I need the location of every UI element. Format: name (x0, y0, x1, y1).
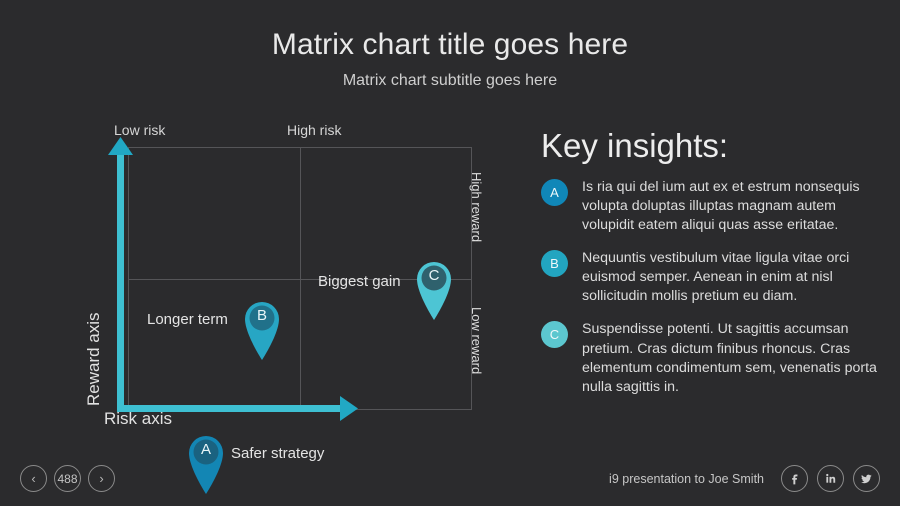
matrix-chart: Low risk High risk High reward Low rewar… (0, 110, 510, 440)
page-subtitle: Matrix chart subtitle goes here (0, 72, 900, 90)
page-number-badge[interactable]: 488 (54, 465, 81, 492)
matrix-pin-a-letter: A (180, 427, 232, 471)
insight-badge-c: C (541, 321, 568, 348)
matrix-pin-c-caption: Biggest gain (318, 273, 401, 290)
x-axis-label: Risk axis (104, 409, 172, 429)
matrix-pin-a-caption: Safer strategy (231, 445, 324, 462)
facebook-icon[interactable] (781, 465, 808, 492)
insight-text-b: Nequuntis vestibulum vitae ligula vitae … (582, 249, 881, 306)
quadrant-label-low-reward: Low reward (469, 307, 484, 374)
key-insights-panel: Key insights: A Is ria qui del ium aut e… (541, 128, 881, 411)
matrix-pin-b[interactable]: B (236, 293, 288, 361)
presentation-note: i9 presentation to Joe Smith (609, 472, 764, 486)
matrix-pin-c-letter: C (408, 253, 460, 297)
linkedin-icon[interactable] (817, 465, 844, 492)
slide-navigation: ‹ 488 › (20, 465, 115, 492)
next-slide-button[interactable]: › (88, 465, 115, 492)
slide-header: Matrix chart title goes here Matrix char… (0, 28, 900, 90)
insight-badge-b: B (541, 250, 568, 277)
y-axis-label: Reward axis (84, 312, 104, 406)
insight-item-b: B Nequuntis vestibulum vitae ligula vita… (541, 249, 881, 306)
insight-badge-a: A (541, 179, 568, 206)
insight-text-c: Suspendisse potenti. Ut sagittis accumsa… (582, 320, 881, 396)
insight-item-a: A Is ria qui del ium aut ex et estrum no… (541, 178, 881, 235)
matrix-pin-a[interactable]: A (180, 427, 232, 495)
insight-text-a: Is ria qui del ium aut ex et estrum nons… (582, 178, 881, 235)
twitter-icon[interactable] (853, 465, 880, 492)
footer-meta: i9 presentation to Joe Smith (609, 465, 880, 492)
prev-slide-button[interactable]: ‹ (20, 465, 47, 492)
matrix-pin-b-letter: B (236, 293, 288, 337)
key-insights-heading: Key insights: (541, 128, 881, 164)
page-title: Matrix chart title goes here (0, 28, 900, 63)
matrix-pin-b-caption: Longer term (147, 311, 228, 328)
quadrant-label-high-reward: High reward (469, 172, 484, 242)
matrix-pin-c[interactable]: C (408, 253, 460, 321)
insight-item-c: C Suspendisse potenti. Ut sagittis accum… (541, 320, 881, 396)
